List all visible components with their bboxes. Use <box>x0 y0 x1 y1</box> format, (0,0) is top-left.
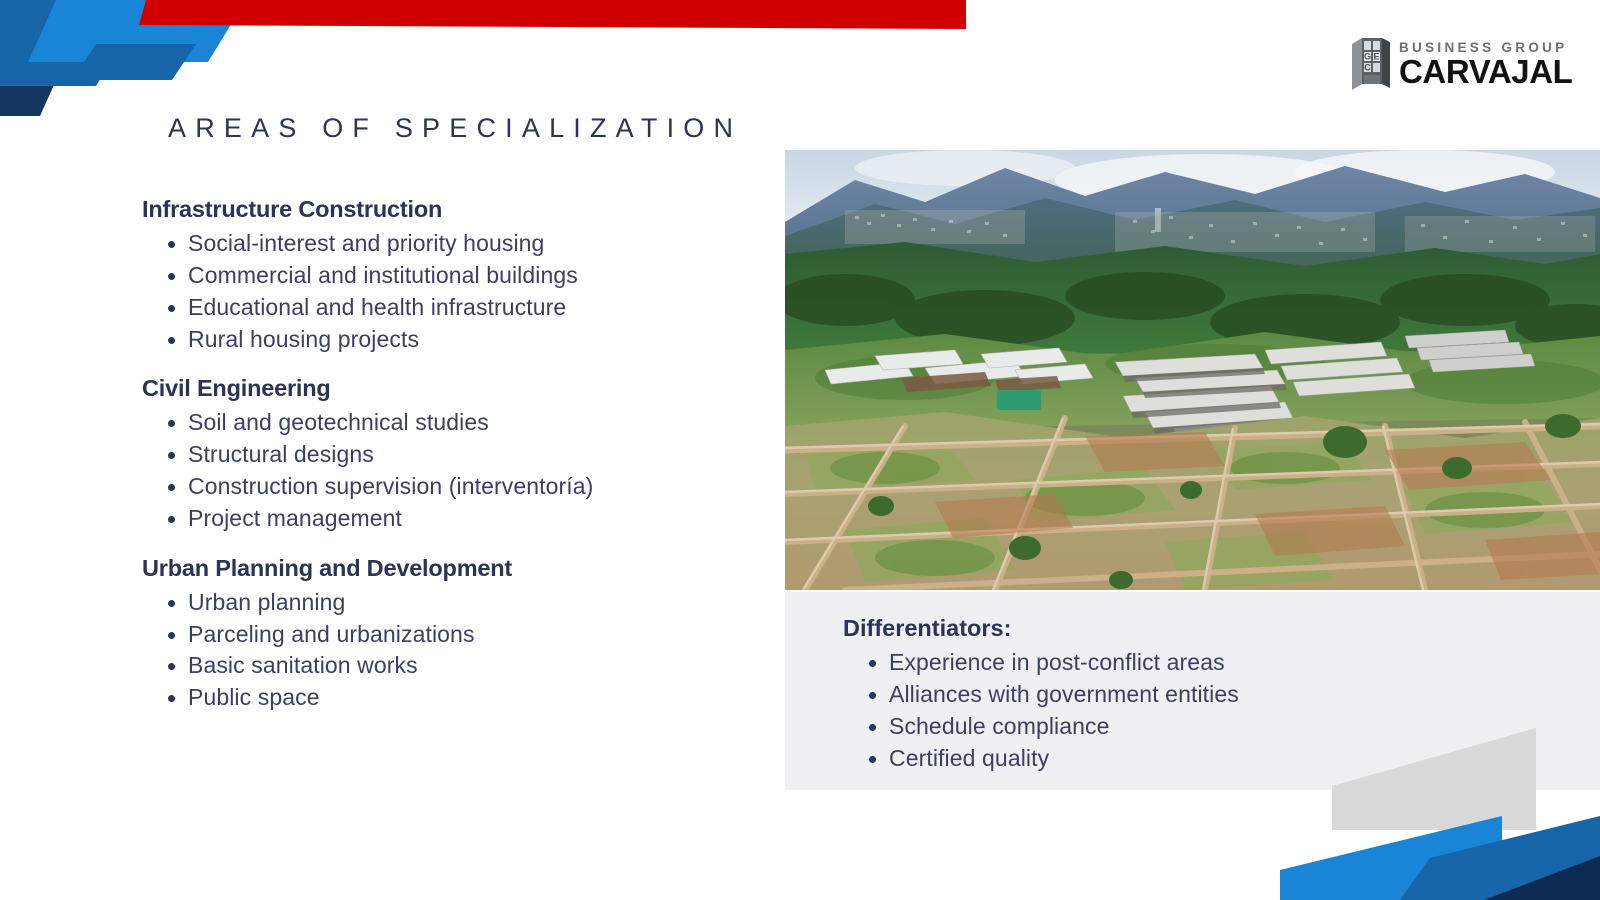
logo-name: CARVAJAL <box>1399 56 1572 87</box>
section-bullet-list: Soil and geotechnical studies Structural… <box>142 407 762 534</box>
top-red-bar <box>0 0 1000 40</box>
brand-logo: G E C BUSINESS GROUP CARVAJAL <box>1352 38 1572 90</box>
photo-green-tarp <box>997 390 1041 410</box>
deco-shape-gray <box>1332 728 1536 830</box>
list-item: Project management <box>164 503 762 535</box>
differentiators-heading: Differentiators: <box>843 615 1600 642</box>
list-item: Construction supervision (interventoría) <box>164 471 762 503</box>
list-item: Commercial and institutional buildings <box>164 260 762 292</box>
list-item: Rural housing projects <box>164 324 762 356</box>
red-bar-shape <box>139 0 966 29</box>
specialization-areas-list: Infrastructure Construction Social-inter… <box>142 196 762 714</box>
svg-text:C: C <box>1364 63 1371 73</box>
page-title: AREAS OF SPECIALIZATION <box>168 113 742 144</box>
section-bullet-list: Social-interest and priority housing Com… <box>142 228 762 355</box>
list-item: Basic sanitation works <box>164 650 762 682</box>
logo-building-icon: G E C <box>1352 38 1390 90</box>
bottom-right-decoration <box>1280 700 1600 900</box>
list-item: Structural designs <box>164 439 762 471</box>
list-item: Parceling and urbanizations <box>164 619 762 651</box>
aerial-project-photo <box>785 150 1600 590</box>
section-bullet-list: Urban planning Parceling and urbanizatio… <box>142 587 762 714</box>
svg-text:E: E <box>1373 52 1379 62</box>
section-heading: Civil Engineering <box>142 375 762 402</box>
svg-text:G: G <box>1364 52 1371 62</box>
list-item: Educational and health infrastructure <box>164 292 762 324</box>
section-urban-planning-and-development: Urban Planning and Development Urban pla… <box>142 555 762 714</box>
section-infrastructure-construction: Infrastructure Construction Social-inter… <box>142 196 762 355</box>
list-item: Public space <box>164 682 762 714</box>
section-heading: Infrastructure Construction <box>142 196 762 223</box>
list-item: Urban planning <box>164 587 762 619</box>
section-civil-engineering: Civil Engineering Soil and geotechnical … <box>142 375 762 534</box>
section-heading: Urban Planning and Development <box>142 555 762 582</box>
logo-subtitle: BUSINESS GROUP <box>1399 41 1572 55</box>
list-item: Soil and geotechnical studies <box>164 407 762 439</box>
list-item: Experience in post-conflict areas <box>865 647 1600 679</box>
logo-wordmark: BUSINESS GROUP CARVAJAL <box>1399 41 1572 88</box>
list-item: Social-interest and priority housing <box>164 228 762 260</box>
